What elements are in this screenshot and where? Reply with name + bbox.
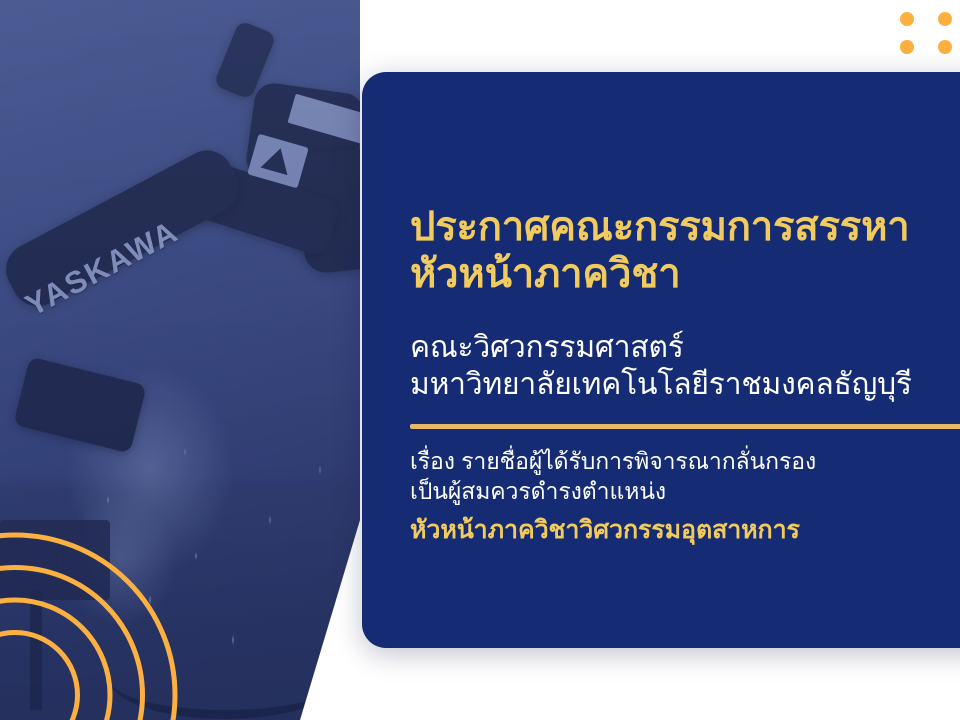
poster-canvas: ก้าวสู่ TOP 5 ENGINEERING 2570 YASKAWA: [0, 0, 960, 720]
organization-subtitle: คณะวิศวกรรมศาสตร์ มหาวิทยาลัยเทคโนโลยีรา…: [410, 330, 960, 403]
subject-line-1: เรื่อง รายชื่อผู้ได้รับการพิจารณากลั่นกร…: [410, 448, 816, 474]
dot: [900, 12, 914, 26]
photo-background: YASKAWA: [0, 0, 400, 720]
subject-line-2: เป็นผู้สมควรดำรงตำแหน่ง: [410, 477, 960, 507]
dot: [938, 40, 952, 54]
welding-robot-photo: YASKAWA: [0, 0, 400, 720]
dot: [938, 12, 952, 26]
university-name: มหาวิทยาลัยเทคโนโลยีราชมงคลธัญบุรี: [410, 367, 960, 404]
faculty-name: คณะวิศวกรรมศาสตร์: [410, 331, 684, 364]
announcement-subject: เรื่อง รายชื่อผู้ได้รับการพิจารณากลั่นกร…: [410, 447, 960, 507]
gold-divider: [410, 424, 960, 429]
position-title: หัวหน้าภาควิชาวิศวกรรมอุตสาหการ: [410, 510, 960, 550]
page-title-line-1: ประกาศคณะกรรมการสรรหา: [410, 205, 910, 249]
page-title-line-2: หัวหน้าภาควิชา: [410, 251, 960, 298]
photo-highlight-overlay: [0, 0, 400, 720]
page-title: ประกาศคณะกรรมการสรรหา หัวหน้าภาควิชา: [410, 204, 960, 298]
dot-grid: [900, 12, 956, 60]
announcement-card: ประกาศคณะกรรมการสรรหา หัวหน้าภาควิชา คณะ…: [362, 72, 960, 648]
announcement-card-content: ประกาศคณะกรรมการสรรหา หัวหน้าภาควิชา คณะ…: [410, 72, 960, 648]
dot: [900, 40, 914, 54]
